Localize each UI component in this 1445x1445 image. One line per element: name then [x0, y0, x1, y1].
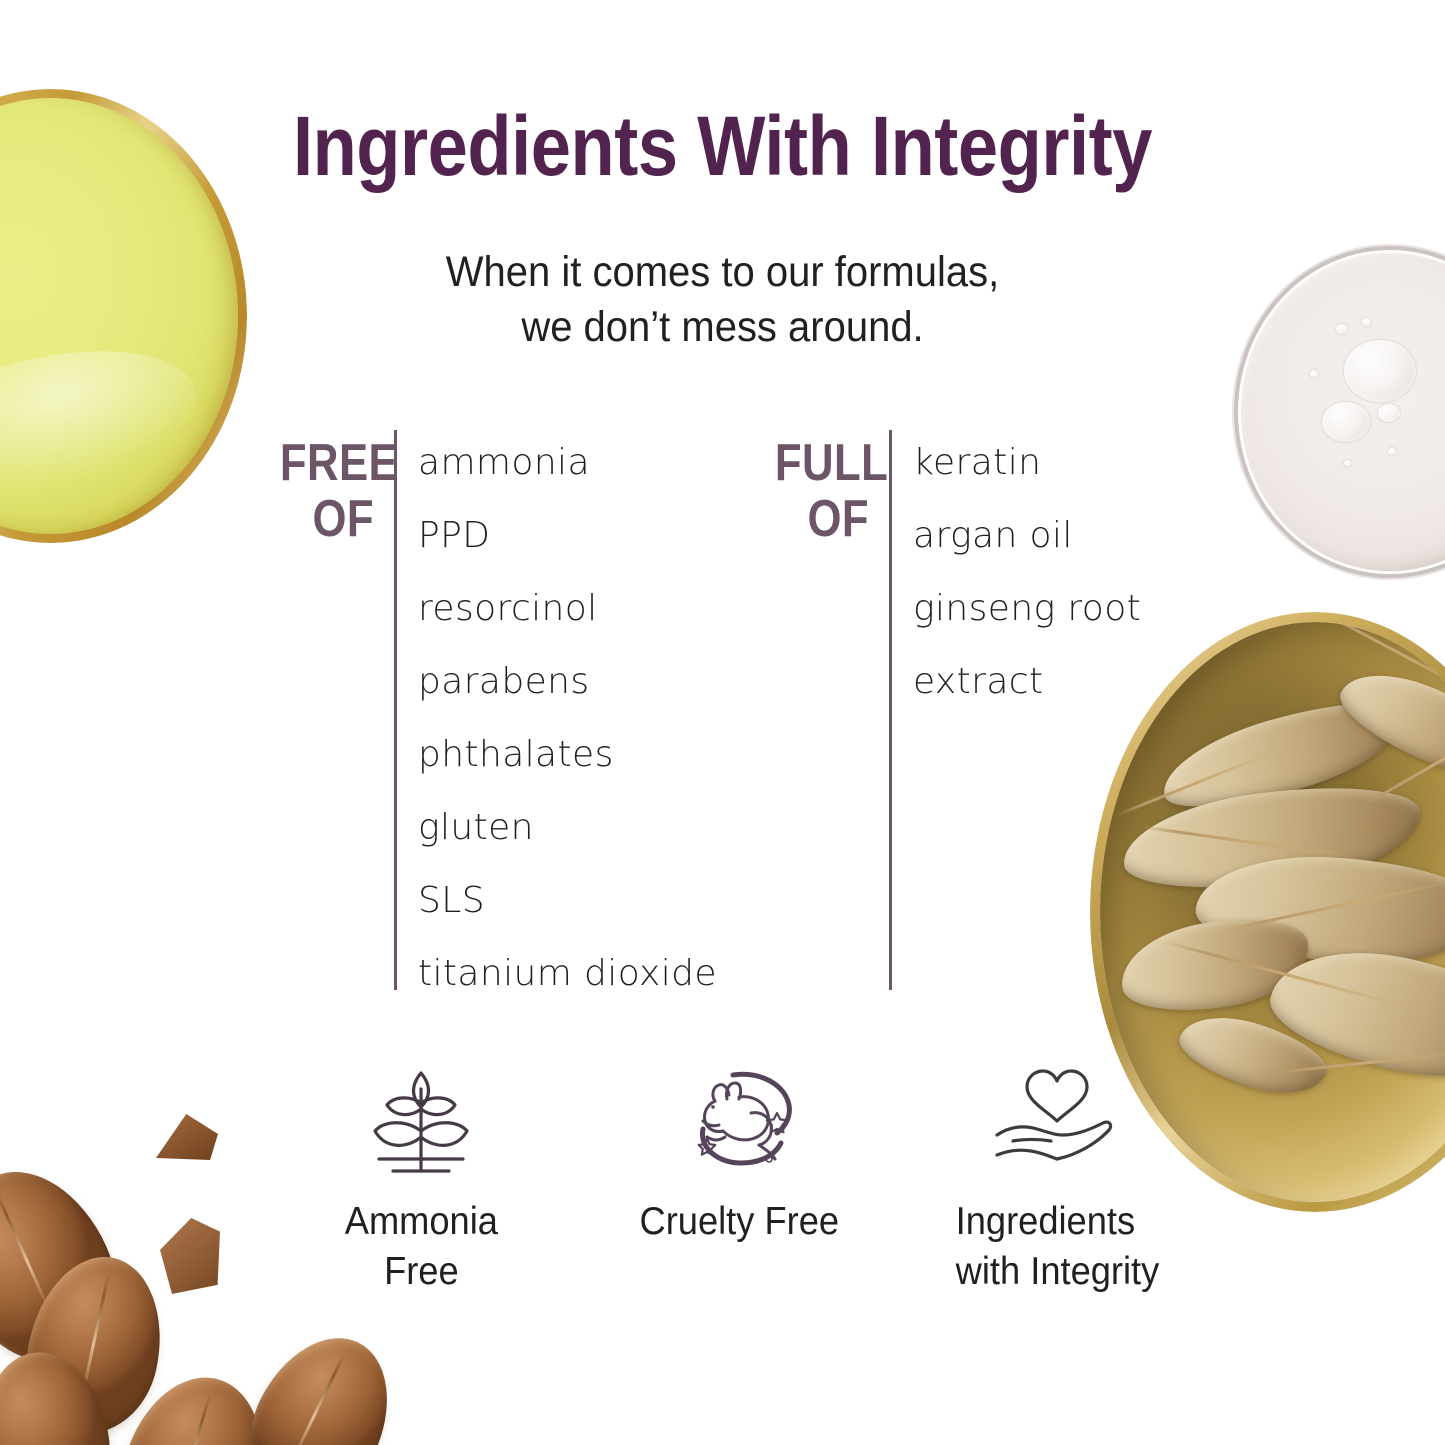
list-item: gluten: [418, 791, 717, 864]
full-of-divider: [889, 430, 892, 990]
page-title: Ingredients With Integrity: [101, 104, 1344, 188]
free-of-label-line-1: FREE: [280, 436, 374, 492]
list-item: PPD: [418, 499, 717, 572]
badge-row: Ammonia Free: [262, 1055, 1217, 1297]
page-subtitle-line-1: When it comes to our formulas,: [51, 245, 1395, 300]
wheat-sprig-icon: [357, 1055, 485, 1183]
badge-label-line-1: Ingredients: [955, 1197, 1159, 1247]
badge-label-line-1: Ammonia: [344, 1197, 497, 1247]
list-item: keratin: [913, 426, 1141, 499]
list-item: SLS: [418, 864, 717, 937]
list-item: parabens: [418, 645, 717, 718]
badge-ingredients-with-integrity: Ingredients with Integrity: [898, 1055, 1216, 1297]
page-subtitle-line-2: we don’t mess around.: [51, 300, 1395, 355]
badge-cruelty-free-label: Cruelty Free: [639, 1197, 839, 1247]
leaping-bunny-icon: [675, 1055, 803, 1183]
full-of-list: keratin argan oil ginseng root extract: [913, 426, 1141, 718]
free-of-label-line-2: OF: [280, 492, 374, 548]
list-item: titanium dioxide: [418, 937, 717, 1010]
list-item: resorcinol: [418, 572, 717, 645]
badge-cruelty-free: Cruelty Free: [580, 1055, 898, 1297]
badge-label-line-1: Cruelty Free: [639, 1197, 839, 1247]
full-of-label-line-1: FULL: [775, 436, 869, 492]
list-item: phthalates: [418, 718, 717, 791]
page-subtitle: When it comes to our formulas, we don’t …: [51, 245, 1395, 355]
badge-integrity-label: Ingredients with Integrity: [955, 1197, 1159, 1297]
full-of-label-line-2: OF: [775, 492, 869, 548]
badge-ammonia-free-label: Ammonia Free: [344, 1197, 497, 1297]
free-of-divider: [394, 430, 397, 990]
free-of-label: FREE OF: [280, 436, 374, 547]
list-item: ginseng root: [913, 572, 1141, 645]
badge-label-line-2: with Integrity: [955, 1247, 1159, 1297]
list-item: argan oil: [913, 499, 1141, 572]
list-item: extract: [913, 645, 1141, 718]
full-of-label: FULL OF: [775, 436, 869, 547]
ingredients-infographic: Ingredients With Integrity When it comes…: [0, 0, 1445, 1445]
badge-label-line-2: Free: [344, 1247, 497, 1297]
list-item: ammonia: [418, 426, 717, 499]
badge-ammonia-free: Ammonia Free: [262, 1055, 580, 1297]
heart-in-hand-icon: [993, 1055, 1121, 1183]
free-of-list: ammonia PPD resorcinol parabens phthalat…: [418, 426, 717, 1010]
